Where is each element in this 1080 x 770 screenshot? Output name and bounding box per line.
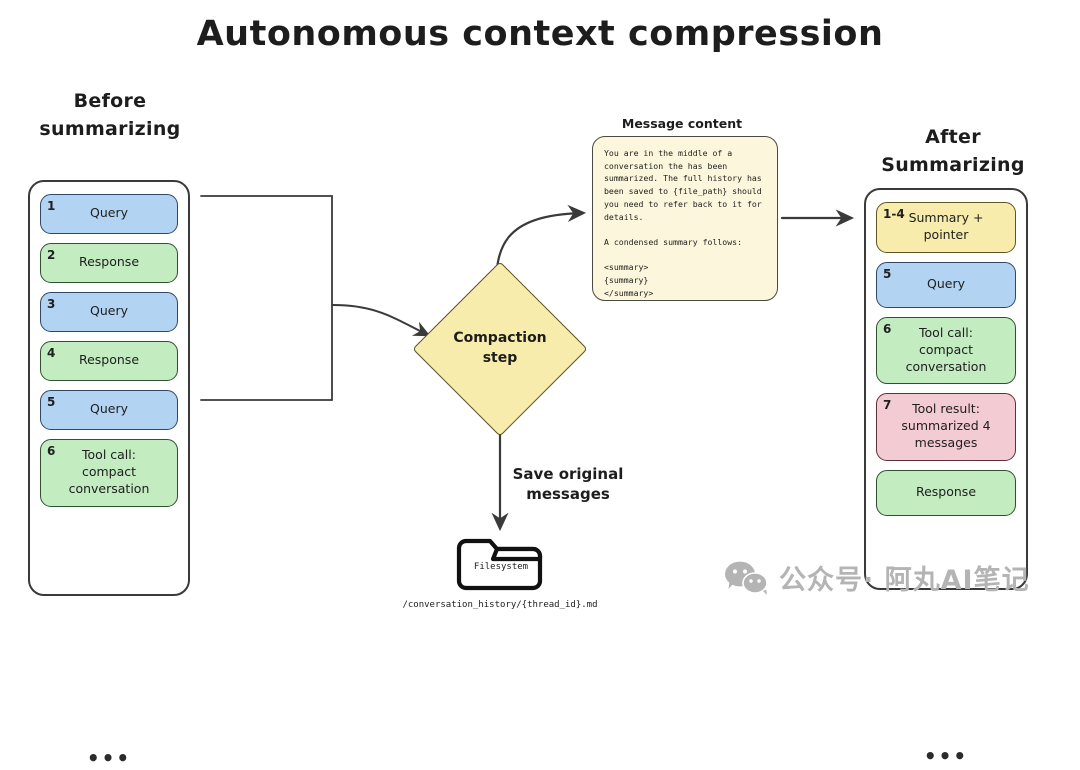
message-label: Response <box>75 254 143 271</box>
watermark: 公众号· 阿丸AI笔记 <box>724 558 1030 597</box>
message-item[interactable]: 6 Tool call: compact conversation <box>40 439 178 507</box>
message-label: Query <box>86 303 132 320</box>
message-index: 3 <box>47 296 55 312</box>
message-content-box: You are in the middle of a conversation … <box>592 136 778 301</box>
after-column-heading: After Summarizing <box>858 124 1048 179</box>
page-title: Autonomous context compression <box>0 14 1080 54</box>
before-ellipsis: ••• <box>30 748 188 768</box>
watermark-text: 公众号· 阿丸AI笔记 <box>779 558 1030 597</box>
before-column-heading: Before summarizing <box>20 88 200 143</box>
message-label: Tool call: compact conversation <box>883 325 1009 376</box>
message-item[interactable]: 4 Response <box>40 341 178 381</box>
message-item[interactable]: Response <box>876 470 1016 516</box>
wechat-icon <box>724 561 768 595</box>
message-item[interactable]: 3 Query <box>40 292 178 332</box>
save-original-messages-label: Save original messages <box>498 464 638 505</box>
message-index: 7 <box>883 397 891 413</box>
after-ellipsis: ••• <box>866 746 1026 766</box>
message-item[interactable]: 1 Query <box>40 194 178 234</box>
message-index: 5 <box>883 266 891 282</box>
message-index: 4 <box>47 345 55 361</box>
filesystem-label: Filesystem <box>462 538 540 588</box>
arrow-bracket-to-compaction <box>333 305 428 335</box>
message-item[interactable]: 7 Tool result: summarized 4 messages <box>876 393 1016 461</box>
message-label: Summary + pointer <box>905 210 988 244</box>
message-label: Tool result: summarized 4 messages <box>897 401 994 452</box>
message-index: 6 <box>883 321 891 337</box>
before-messages-panel: 1 Query 2 Response 3 Query 4 Response 5 … <box>28 180 190 596</box>
before-message-list: 1 Query 2 Response 3 Query 4 Response 5 … <box>40 194 178 507</box>
message-index: 1-4 <box>883 206 905 222</box>
message-item[interactable]: 6 Tool call: compact conversation <box>876 317 1016 385</box>
compaction-step-node[interactable]: Compaction step <box>438 287 562 411</box>
message-index: 1 <box>47 198 55 214</box>
message-item[interactable]: 1-4 Summary + pointer <box>876 202 1016 253</box>
message-index: 2 <box>47 247 55 263</box>
message-content-title: Message content <box>592 116 772 131</box>
compaction-step-label: Compaction step <box>438 287 562 411</box>
message-item[interactable]: 5 Query <box>40 390 178 430</box>
diagram-canvas: Autonomous context compression Before su… <box>0 0 1080 632</box>
message-item[interactable]: 5 Query <box>876 262 1016 308</box>
message-index: 5 <box>47 394 55 410</box>
filesystem-node[interactable]: Filesystem <box>462 538 540 588</box>
message-label: Tool call: compact conversation <box>47 447 171 498</box>
message-label: Query <box>923 276 969 293</box>
filesystem-path: /conversation_history/{thread_id}.md <box>380 600 620 610</box>
after-message-list: 1-4 Summary + pointer 5 Query 6 Tool cal… <box>876 202 1016 516</box>
message-index: 6 <box>47 443 55 459</box>
after-messages-panel: 1-4 Summary + pointer 5 Query 6 Tool cal… <box>864 188 1028 590</box>
message-label: Response <box>912 484 980 501</box>
message-label: Query <box>86 205 132 222</box>
message-label: Response <box>75 352 143 369</box>
grouping-bracket <box>201 196 332 400</box>
message-item[interactable]: 2 Response <box>40 243 178 283</box>
message-label: Query <box>86 401 132 418</box>
